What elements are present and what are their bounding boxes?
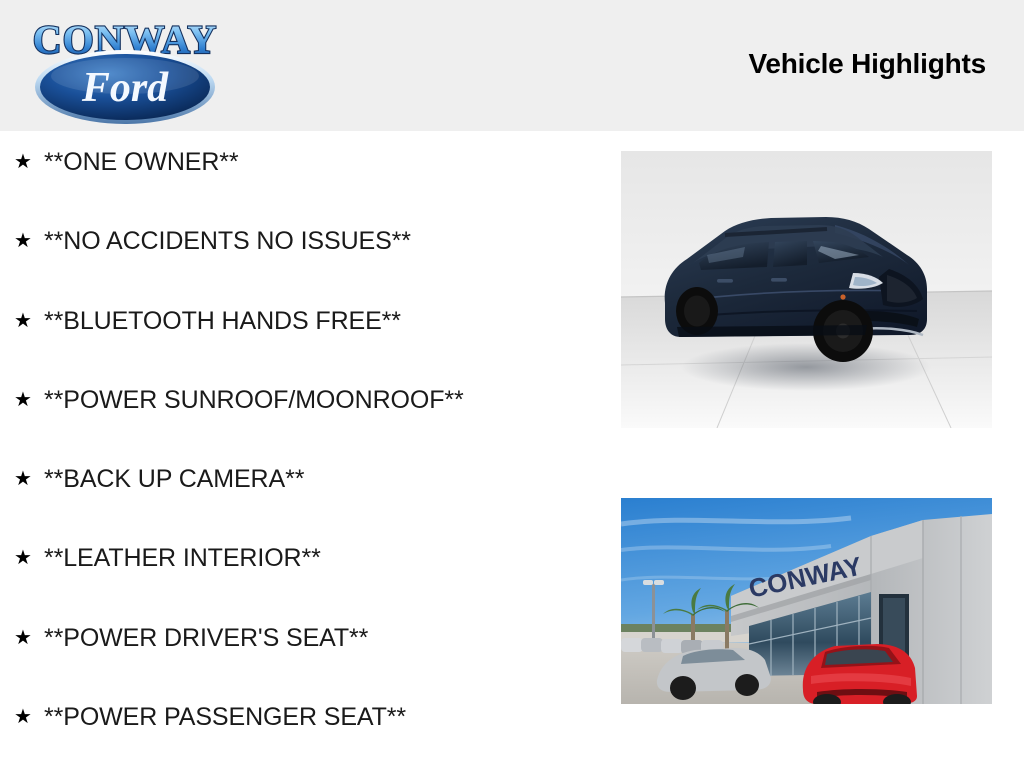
star-icon: ★ bbox=[14, 702, 44, 732]
vehicle-photo[interactable] bbox=[621, 151, 992, 428]
list-item-label: **POWER SUNROOF/MOONROOF** bbox=[44, 385, 464, 415]
list-item: ★ **BLUETOOTH HANDS FREE** bbox=[0, 306, 610, 385]
star-icon: ★ bbox=[14, 226, 44, 256]
list-item: ★ **LEATHER INTERIOR** bbox=[0, 543, 610, 622]
list-item-label: **ONE OWNER** bbox=[44, 147, 239, 177]
red-car bbox=[803, 644, 917, 704]
vehicle-photo-image bbox=[621, 151, 992, 428]
list-item-label: **POWER DRIVER'S SEAT** bbox=[44, 623, 368, 653]
logo-graphic: CONWAY Ford bbox=[18, 8, 233, 126]
dealership-photo[interactable]: CONWAY bbox=[621, 498, 992, 704]
star-icon: ★ bbox=[14, 147, 44, 177]
list-item: ★ **POWER SUNROOF/MOONROOF** bbox=[0, 385, 610, 464]
page-title: Vehicle Highlights bbox=[748, 48, 986, 80]
list-item-label: **BLUETOOTH HANDS FREE** bbox=[44, 306, 401, 336]
logo-ford-oval: Ford bbox=[35, 50, 215, 124]
header-bar: CONWAY Ford Vehicle Highlights bbox=[0, 0, 1024, 131]
star-icon: ★ bbox=[14, 623, 44, 653]
svg-text:Ford: Ford bbox=[81, 65, 169, 111]
list-item: ★ **ONE OWNER** bbox=[0, 147, 610, 226]
list-item-label: **LEATHER INTERIOR** bbox=[44, 543, 321, 573]
conway-ford-logo[interactable]: CONWAY Ford bbox=[18, 8, 233, 126]
list-item: ★ **NO ACCIDENTS NO ISSUES** bbox=[0, 226, 610, 305]
star-icon: ★ bbox=[14, 543, 44, 573]
star-icon: ★ bbox=[14, 306, 44, 336]
star-icon: ★ bbox=[14, 385, 44, 415]
star-icon: ★ bbox=[14, 464, 44, 494]
list-item: ★ **POWER DRIVER'S SEAT** bbox=[0, 623, 610, 702]
list-item-label: **NO ACCIDENTS NO ISSUES** bbox=[44, 226, 411, 256]
list-item: ★ **BACK UP CAMERA** bbox=[0, 464, 610, 543]
list-item-label: **POWER PASSENGER SEAT** bbox=[44, 702, 406, 732]
list-item: ★ **POWER PASSENGER SEAT** bbox=[0, 702, 610, 781]
vehicle-highlights-list: ★ **ONE OWNER** ★ **NO ACCIDENTS NO ISSU… bbox=[0, 147, 610, 781]
list-item-label: **BACK UP CAMERA** bbox=[44, 464, 304, 494]
dealership-photo-image: CONWAY bbox=[621, 498, 992, 704]
